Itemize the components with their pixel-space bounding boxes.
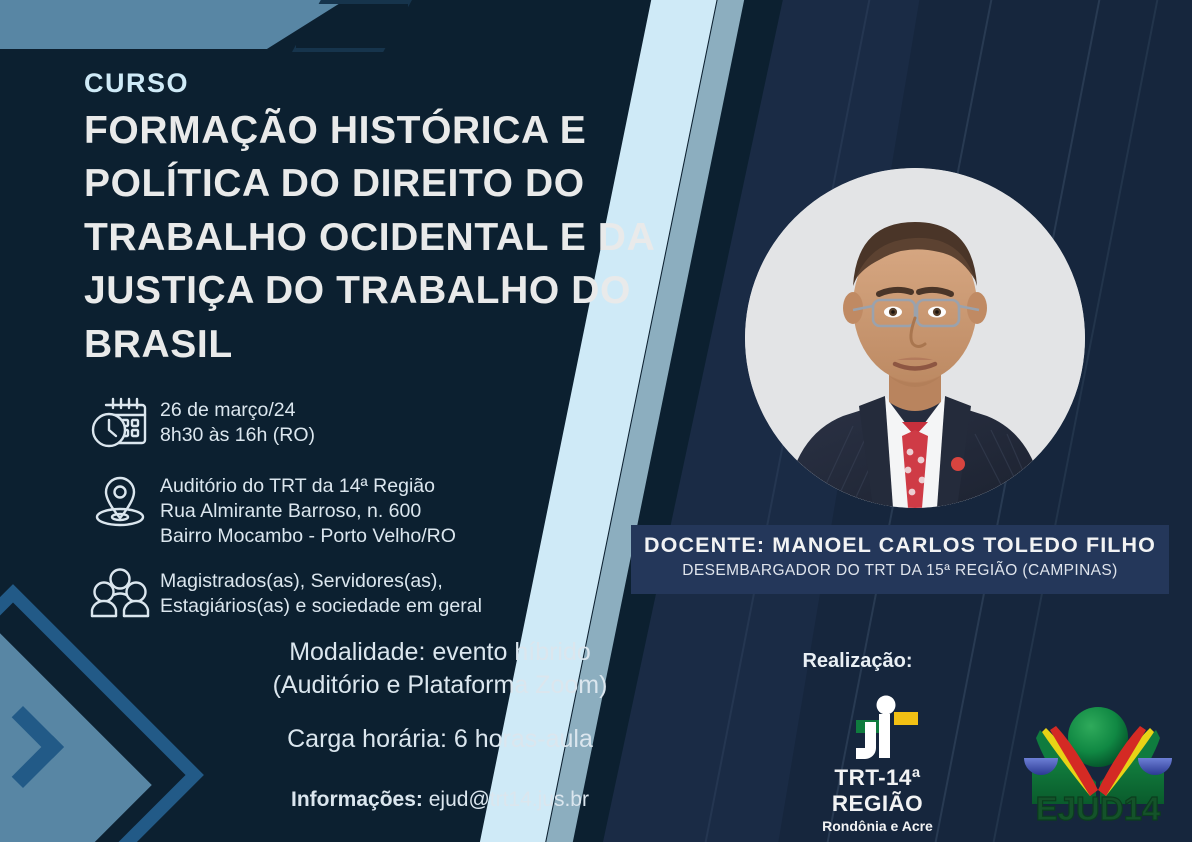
audience-line-1: Magistrados(as), Servidores(as), [160,569,482,594]
location-line-2: Rua Almirante Barroso, n. 600 [160,499,456,524]
info-row-audience: Magistrados(as), Servidores(as), Estagiá… [80,565,640,623]
speaker-role: DESEMBARGADOR DO TRT DA 15ª REGIÃO (CAMP… [631,562,1169,580]
workload-line: Carga horária: 6 horas-aula [180,725,700,754]
contact-email[interactable]: ejud@trt14.jus.br [429,788,589,811]
info-text-location: Auditório do TRT da 14ª Região Rua Almir… [160,470,456,549]
info-row-date: 26 de março/24 8h30 às 16h (RO) [80,394,640,454]
ejud-logo-wordmark: EJUD14 [1035,790,1160,826]
info-text-audience: Magistrados(as), Servidores(as), Estagiá… [160,565,482,619]
speaker-portrait-illustration [745,168,1085,508]
location-line-3: Bairro Mocambo - Porto Velho/RO [160,524,456,549]
sponsor-logos: TRT-14ª REGIÃO Rondônia e Acre [790,690,1180,835]
contact-line: Informações: ejud@trt14.jus.br [180,788,700,812]
date-line-2: 8h30 às 16h (RO) [160,423,315,448]
trt-logo-mark-icon [790,692,965,764]
speaker-photo [745,168,1085,508]
course-kicker: CURSO [84,68,189,99]
speaker-banner: DOCENTE: MANOEL CARLOS TOLEDO FILHO DESE… [631,525,1169,594]
event-info-list: 26 de março/24 8h30 às 16h (RO) Auditóri… [80,394,640,639]
modality-line-2: (Auditório e Plataforma Zoom) [180,669,700,702]
speaker-name: DOCENTE: MANOEL CARLOS TOLEDO FILHO [631,533,1169,558]
modality-line-1: Modalidade: evento híbrido [180,636,700,669]
calendar-clock-icon [80,394,160,454]
ejud-logo: EJUD14 EJUD14 [1015,694,1180,831]
sponsors-label: Realização: [795,650,920,673]
left-content-column: CURSO FORMAÇÃO HISTÓRICA E POLÍTICA DO D… [0,0,720,842]
location-line-1: Auditório do TRT da 14ª Região [160,474,456,499]
audience-line-2: Estagiários(as) e sociedade em geral [160,594,482,619]
trt-logo-name: TRT-14ª REGIÃO [790,765,965,817]
ejud-logo-mark-icon: EJUD14 [1018,694,1178,826]
info-row-location: Auditório do TRT da 14ª Região Rua Almir… [80,470,640,549]
jt-figure-icon [832,692,924,764]
map-pin-icon [80,470,160,532]
info-text-date: 26 de março/24 8h30 às 16h (RO) [160,394,315,448]
page-title: FORMAÇÃO HISTÓRICA E POLÍTICA DO DIREITO… [84,104,724,371]
trt-logo-subtitle: Rondônia e Acre [790,818,965,834]
people-group-icon [80,565,160,623]
ejud-logo-name: EJUD14 [1178,694,1179,695]
date-line-1: 26 de março/24 [160,398,315,423]
contact-label: Informações: [291,788,423,811]
event-details-block: Modalidade: evento híbrido (Auditório e … [180,636,700,812]
event-poster: CURSO FORMAÇÃO HISTÓRICA E POLÍTICA DO D… [0,0,1192,842]
trt-logo: TRT-14ª REGIÃO Rondônia e Acre [790,692,965,834]
